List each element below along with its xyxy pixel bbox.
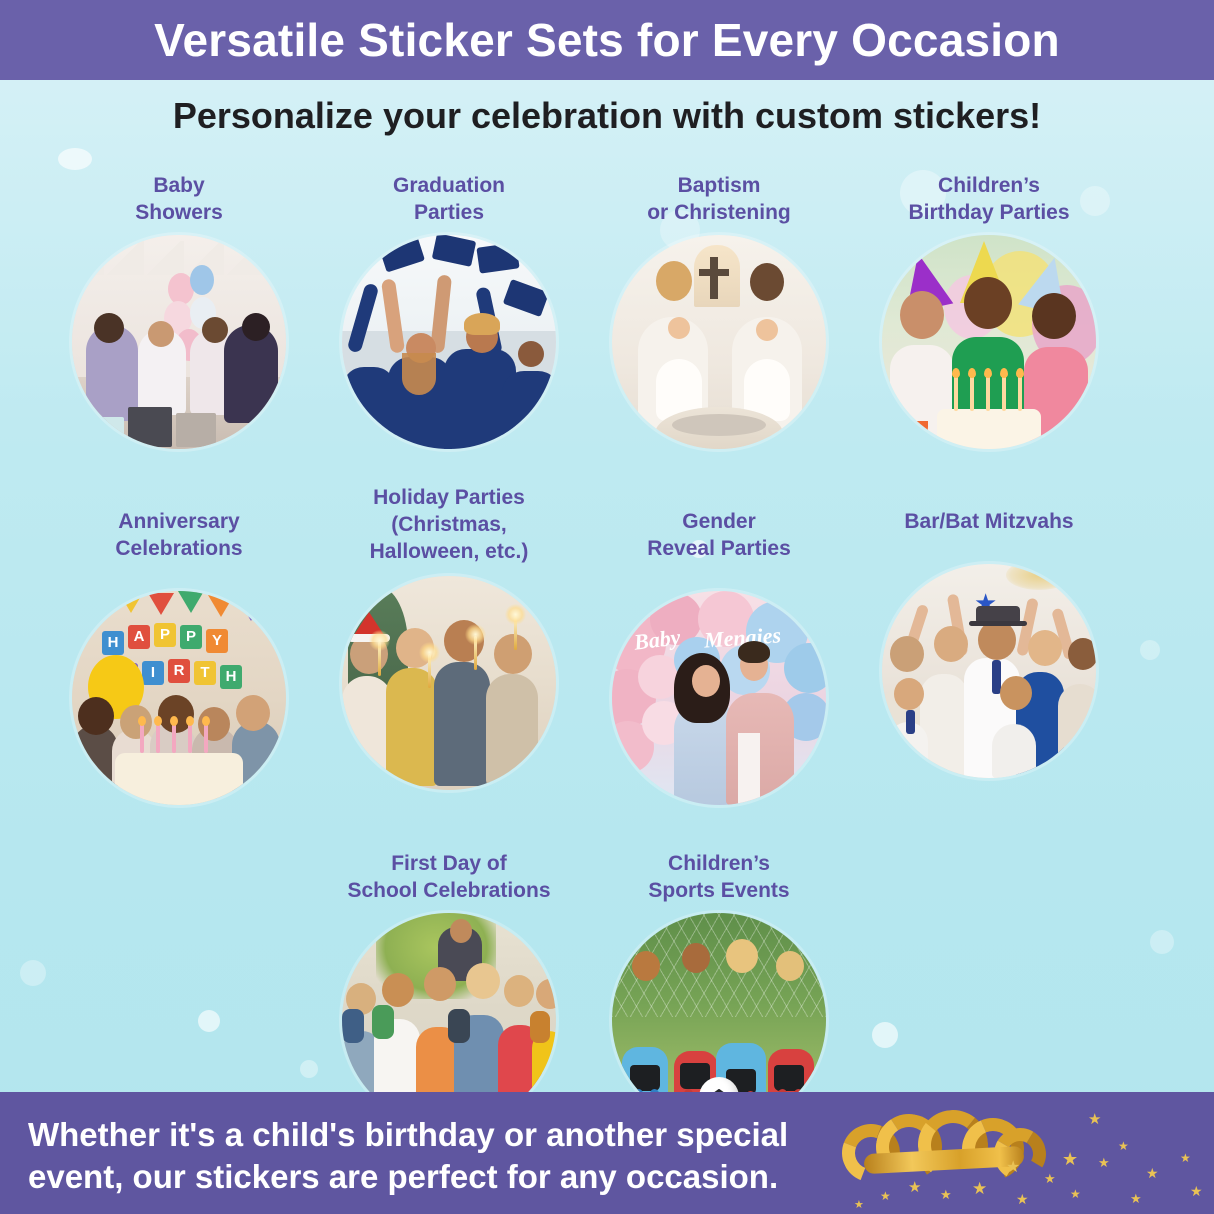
occasion-label-childrens-sports-events: Children’s Sports Events <box>584 851 854 905</box>
footer-bar: Whether it's a child's birthday or anoth… <box>0 1092 1214 1214</box>
occasions-grid: Baby Showers <box>0 165 1214 1091</box>
occasion-photo-bar-bat-mitzvahs: ★ <box>882 564 1096 778</box>
occasion-card-first-day-of-school[interactable]: First Day of School Celebrations <box>314 851 584 1127</box>
occasion-photo-holiday-parties <box>342 576 556 790</box>
occasion-label-gender-reveal-parties: Gender Reveal Parties <box>584 509 854 563</box>
header-bar: Versatile Sticker Sets for Every Occasio… <box>0 0 1214 80</box>
occasion-card-childrens-sports-events[interactable]: Children’s Sports Events <box>584 851 854 1127</box>
occasion-photo-anniversary-celebrations: H A P P Y B I R T H <box>72 591 286 805</box>
occasion-card-holiday-parties[interactable]: Holiday Parties (Christmas, Halloween, e… <box>314 485 584 790</box>
occasion-label-graduation-parties: Graduation Parties <box>314 173 584 227</box>
occasion-label-baptism-christening: Baptism or Christening <box>584 173 854 227</box>
occasions-row-3: First Day of School Celebrations <box>0 841 1214 1091</box>
occasion-card-graduation-parties[interactable]: Graduation Parties <box>314 173 584 449</box>
occasion-photo-graduation-parties <box>342 235 556 449</box>
page-title: Versatile Sticker Sets for Every Occasio… <box>154 13 1060 67</box>
subtitle: Personalize your celebration with custom… <box>0 95 1214 137</box>
occasion-photo-baby-showers <box>72 235 286 449</box>
occasion-label-bar-bat-mitzvahs: Bar/Bat Mitzvahs <box>854 509 1124 536</box>
occasion-label-first-day-of-school: First Day of School Celebrations <box>314 851 584 905</box>
gender-reveal-script-left: Baby <box>633 624 682 655</box>
occasions-row-1: Baby Showers <box>0 165 1214 475</box>
occasion-card-anniversary-celebrations[interactable]: Anniversary Celebrations H A P P Y B I <box>44 509 314 805</box>
occasion-photo-gender-reveal-parties: Baby Mengies <box>612 591 826 805</box>
occasion-card-baby-showers[interactable]: Baby Showers <box>44 173 314 449</box>
occasion-card-childrens-birthday-parties[interactable]: Children’s Birthday Parties <box>854 173 1124 449</box>
occasion-photo-baptism-christening <box>612 235 826 449</box>
occasion-card-bar-bat-mitzvahs[interactable]: Bar/Bat Mitzvahs ★ <box>854 509 1124 778</box>
occasion-label-childrens-birthday-parties: Children’s Birthday Parties <box>854 173 1124 227</box>
occasions-row-2: Anniversary Celebrations H A P P Y B I <box>0 493 1214 825</box>
occasion-card-gender-reveal-parties[interactable]: Gender Reveal Parties Baby Mengi <box>584 509 854 805</box>
occasion-photo-childrens-birthday-parties <box>882 235 1096 449</box>
occasion-card-baptism-christening[interactable]: Baptism or Christening <box>584 173 854 449</box>
occasion-label-anniversary-celebrations: Anniversary Celebrations <box>44 509 314 563</box>
footer-text: Whether it's a child's birthday or anoth… <box>28 1114 888 1198</box>
occasion-label-holiday-parties: Holiday Parties (Christmas, Halloween, e… <box>314 485 584 566</box>
occasion-label-baby-showers: Baby Showers <box>44 173 314 227</box>
